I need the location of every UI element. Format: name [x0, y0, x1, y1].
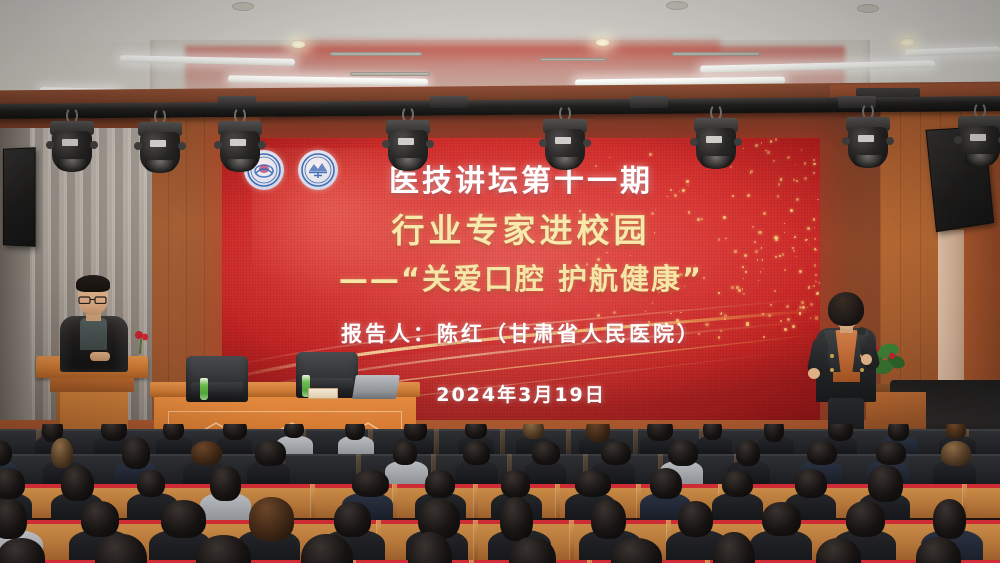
par-can-stage-light — [688, 104, 744, 170]
audience-member-head — [61, 466, 94, 502]
ceiling-fixture — [232, 2, 254, 11]
audience-member-head — [586, 424, 610, 442]
audience-member-head — [255, 440, 285, 466]
audience-member-head — [249, 497, 294, 540]
audience-member-head — [463, 441, 489, 464]
table-nameplate — [308, 388, 338, 399]
host-shirt — [80, 318, 107, 350]
seat-divider — [555, 484, 560, 518]
audience-member-shoulders — [712, 493, 763, 522]
presenter-hand-right — [861, 354, 872, 365]
audience-member-head — [575, 470, 611, 497]
ceiling-vent — [672, 52, 760, 56]
podium-neck — [50, 378, 134, 392]
stage-chair — [186, 356, 248, 402]
red-flower-decoration — [132, 330, 152, 354]
laptop — [352, 375, 400, 399]
truss-clamp — [630, 96, 668, 108]
ceiling-downlight — [594, 38, 611, 47]
ceiling-downlight — [899, 38, 916, 47]
audience-member-head — [137, 470, 165, 498]
ceiling-light-tube — [905, 46, 1000, 56]
audience-member-head — [523, 424, 544, 439]
host-at-podium — [54, 278, 134, 370]
seat-divider — [569, 520, 574, 560]
audience-member-head — [404, 424, 427, 441]
seat-divider — [473, 484, 478, 518]
presenter-with-microphone — [808, 292, 884, 440]
water-bottle — [200, 378, 208, 400]
presenter-hair — [828, 292, 864, 326]
audience-member-head — [393, 441, 417, 465]
seat-divider — [434, 429, 439, 455]
audience-member-head — [101, 424, 127, 441]
par-can-stage-light — [212, 107, 268, 173]
audience-member-head — [532, 441, 560, 465]
host-hair — [76, 275, 110, 292]
host-glasses-icon — [78, 291, 108, 299]
audience-member-head — [650, 468, 683, 499]
audience-member-head — [334, 502, 370, 537]
audience-member-head — [762, 502, 801, 536]
audience-member-head — [210, 466, 241, 501]
audience-member-head — [668, 440, 698, 466]
screen-subtitle: 行业专家进校园 — [222, 204, 820, 252]
seat-divider — [310, 484, 315, 518]
audience-member-head — [591, 499, 626, 540]
audience-member-head — [601, 441, 631, 466]
audience-member-head — [425, 470, 455, 498]
audience-member-head — [703, 424, 722, 440]
lecture-hall-photo: 医技讲坛第十一期 行业专家进校园 ——“关爱口腔 护航健康” 报告人：陈红（甘肃… — [0, 0, 1000, 563]
audience-member-head — [946, 424, 966, 439]
audience-member-head — [51, 438, 73, 468]
seat-divider — [473, 520, 478, 560]
ceiling-vent — [540, 58, 606, 61]
audience-member-head — [933, 499, 967, 539]
audience-member-head — [465, 424, 487, 439]
host-hand — [90, 352, 110, 361]
audience-member-head — [941, 441, 971, 466]
audience-member-head — [876, 441, 907, 464]
audience-member-head — [678, 501, 713, 537]
audience-member-head — [161, 500, 206, 538]
audience-member-head — [501, 470, 530, 498]
ceiling-vent — [330, 52, 422, 56]
audience-member-head — [500, 497, 533, 541]
audience-member-head — [736, 440, 761, 466]
par-can-stage-light — [952, 102, 1000, 168]
audience-member-head — [807, 441, 837, 466]
wall-speaker-left — [3, 147, 36, 247]
ceiling-fixture — [857, 4, 879, 13]
audience-member-head — [191, 441, 222, 466]
seated-student-audience — [0, 424, 1000, 563]
seat-divider — [500, 429, 505, 455]
seat-divider — [566, 429, 571, 455]
blazer-button — [830, 354, 834, 358]
audience-member-head — [846, 501, 886, 536]
ceiling-fixture — [666, 1, 688, 10]
audience-member-head — [223, 424, 247, 440]
screen-speaker-line: 报告人：陈红（甘肃省人民医院） — [222, 318, 820, 348]
par-can-stage-light — [380, 106, 436, 172]
audience-member-head — [81, 501, 119, 536]
audience-member-head — [828, 424, 853, 441]
audience-member-head — [122, 437, 150, 468]
blazer-button — [830, 368, 834, 372]
audience-member-head — [764, 424, 783, 442]
audience-member-head — [352, 470, 389, 497]
par-can-stage-light — [537, 105, 593, 171]
par-can-stage-light — [44, 107, 100, 173]
audience-member-head — [868, 465, 903, 502]
par-can-stage-light — [132, 108, 188, 174]
audience-member-head — [0, 468, 25, 499]
presenter-hand-left — [808, 368, 820, 379]
audience-member-head — [284, 424, 304, 438]
ceiling-downlight — [290, 40, 307, 49]
audience-member-head — [795, 469, 827, 498]
audience-member-head — [0, 499, 27, 539]
par-can-stage-light — [840, 103, 896, 169]
audience-member-head — [722, 470, 754, 497]
audience-member-head — [647, 424, 673, 441]
seat-divider — [633, 429, 638, 455]
blazer-button — [860, 368, 864, 372]
audience-member-head — [345, 424, 365, 440]
screen-theme-quote: ——“关爱口腔 护航健康” — [222, 256, 820, 298]
audience-member-head — [163, 424, 185, 440]
audience-member-head — [888, 424, 909, 441]
ceiling-vent — [350, 72, 430, 76]
